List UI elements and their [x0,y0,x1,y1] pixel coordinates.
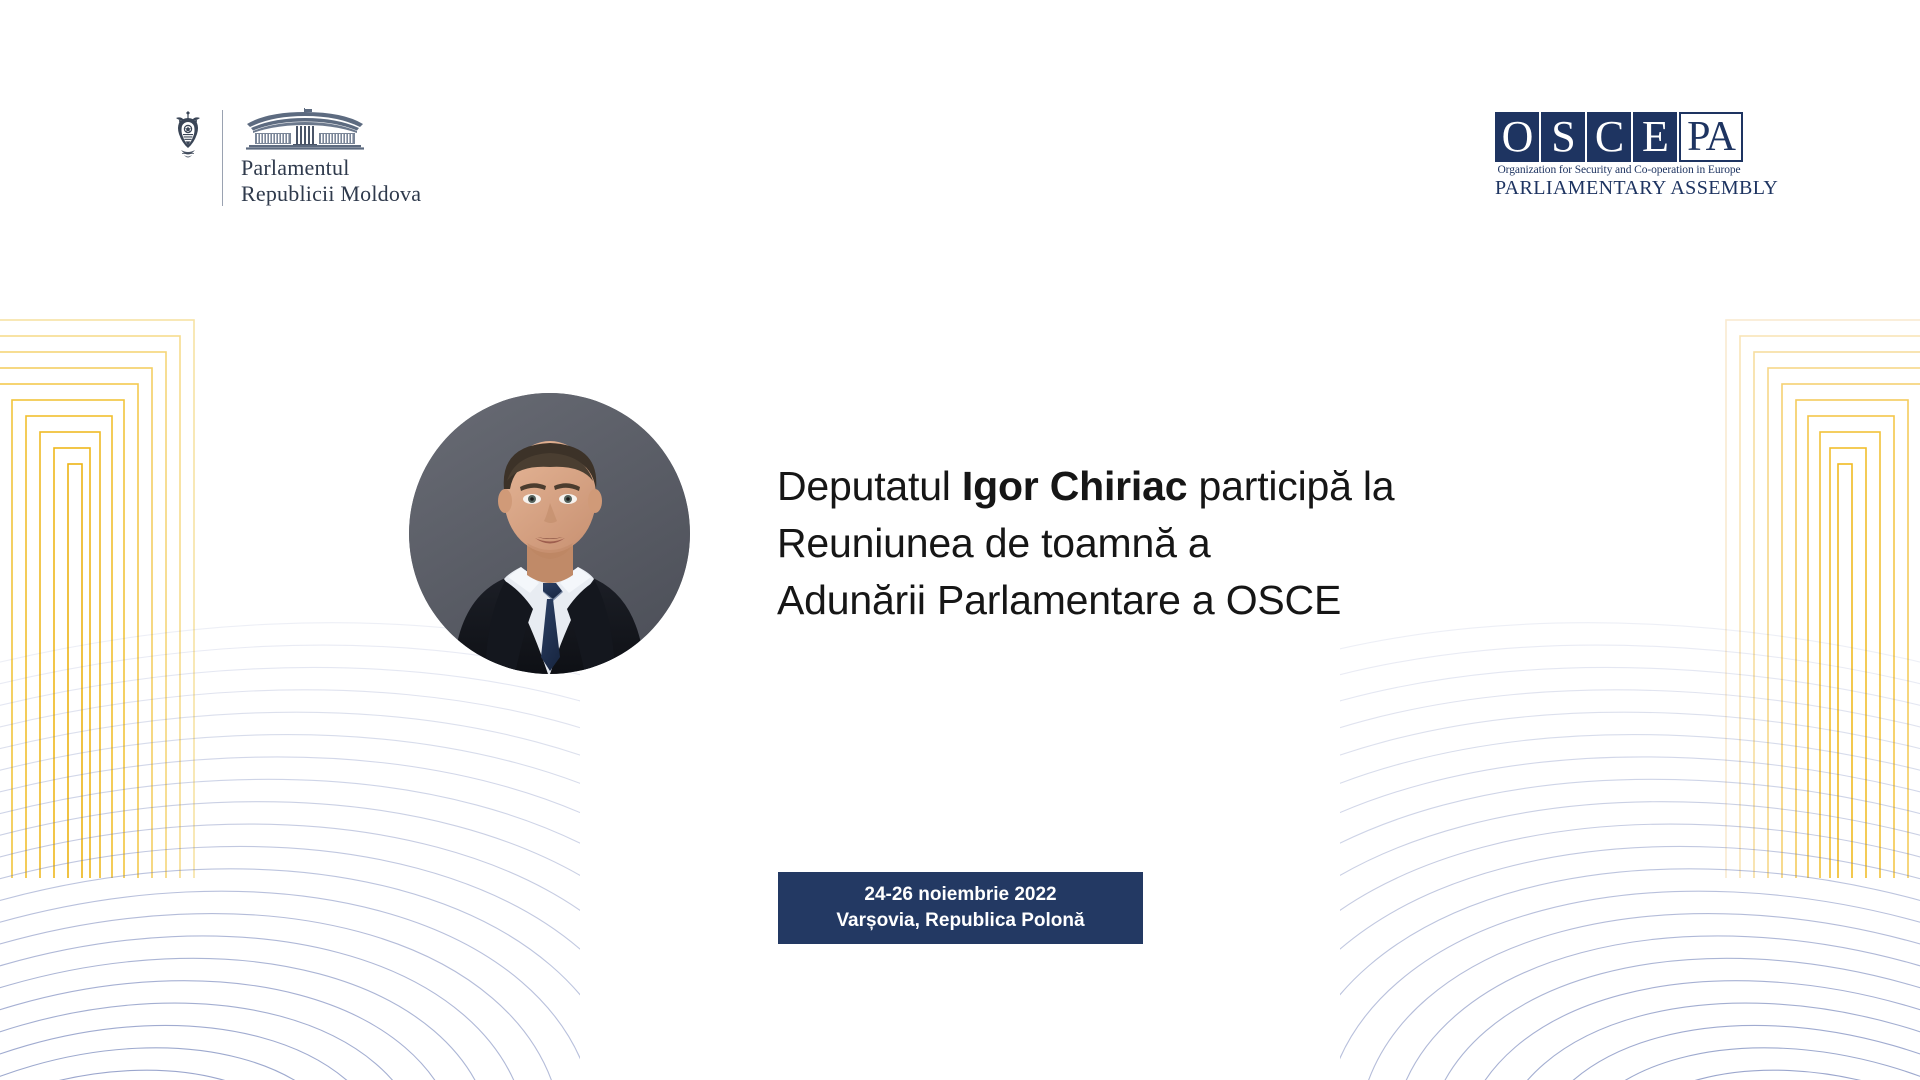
osce-pa-lettermark: O S C E PA [1495,112,1743,162]
headline-line-2: Reuniunea de toamnă a [777,515,1597,572]
event-announcement-poster: Parlamentul Republicii Moldova O S C E P… [0,0,1920,1080]
decoration-concentric-rings-left [0,610,580,1080]
osce-pa-badge: PA [1679,112,1743,162]
logo-moldova-line1: Parlamentul [241,155,421,181]
page-title: Deputatul Igor Chiriac participă la Reun… [777,458,1597,629]
headline-line-1: Deputatul Igor Chiriac participă la [777,458,1597,515]
osce-letter-e: E [1633,112,1677,162]
moldova-coat-of-arms-icon [168,108,208,170]
logo-moldova-line2: Republicii Moldova [241,181,421,207]
osce-letter-o: O [1495,112,1539,162]
logo-divider [222,110,223,206]
event-location: Varșovia, Republica Polonă [836,908,1084,934]
logo-parlamentul-republicii-moldova: Parlamentul Republicii Moldova [168,108,421,206]
headline-suffix: participă la [1187,463,1394,509]
osce-letter-s: S [1541,112,1585,162]
event-date-location-badge: 24-26 noiembrie 2022 Varșovia, Republica… [778,872,1143,944]
event-dates: 24-26 noiembrie 2022 [864,882,1056,908]
osce-parliamentary-assembly-label: PARLIAMENTARY ASSEMBLY [1495,177,1743,200]
osce-subtitle: Organization for Security and Co-operati… [1495,164,1743,176]
decoration-nested-rectangles-left [0,318,200,878]
osce-letter-c: C [1587,112,1631,162]
headline-prefix: Deputatul [777,463,962,509]
headline-person-name: Igor Chiriac [962,463,1187,509]
logo-osce-pa: O S C E PA Organization for Security and… [1495,112,1743,200]
avatar [409,393,690,674]
headline-line-3: Adunării Parlamentare a OSCE [777,572,1597,629]
decoration-concentric-rings-right [1340,610,1920,1080]
parliament-building-icon [241,108,369,150]
logo-moldova-text: Parlamentul Republicii Moldova [241,155,421,206]
decoration-nested-rectangles-right [1720,318,1920,878]
